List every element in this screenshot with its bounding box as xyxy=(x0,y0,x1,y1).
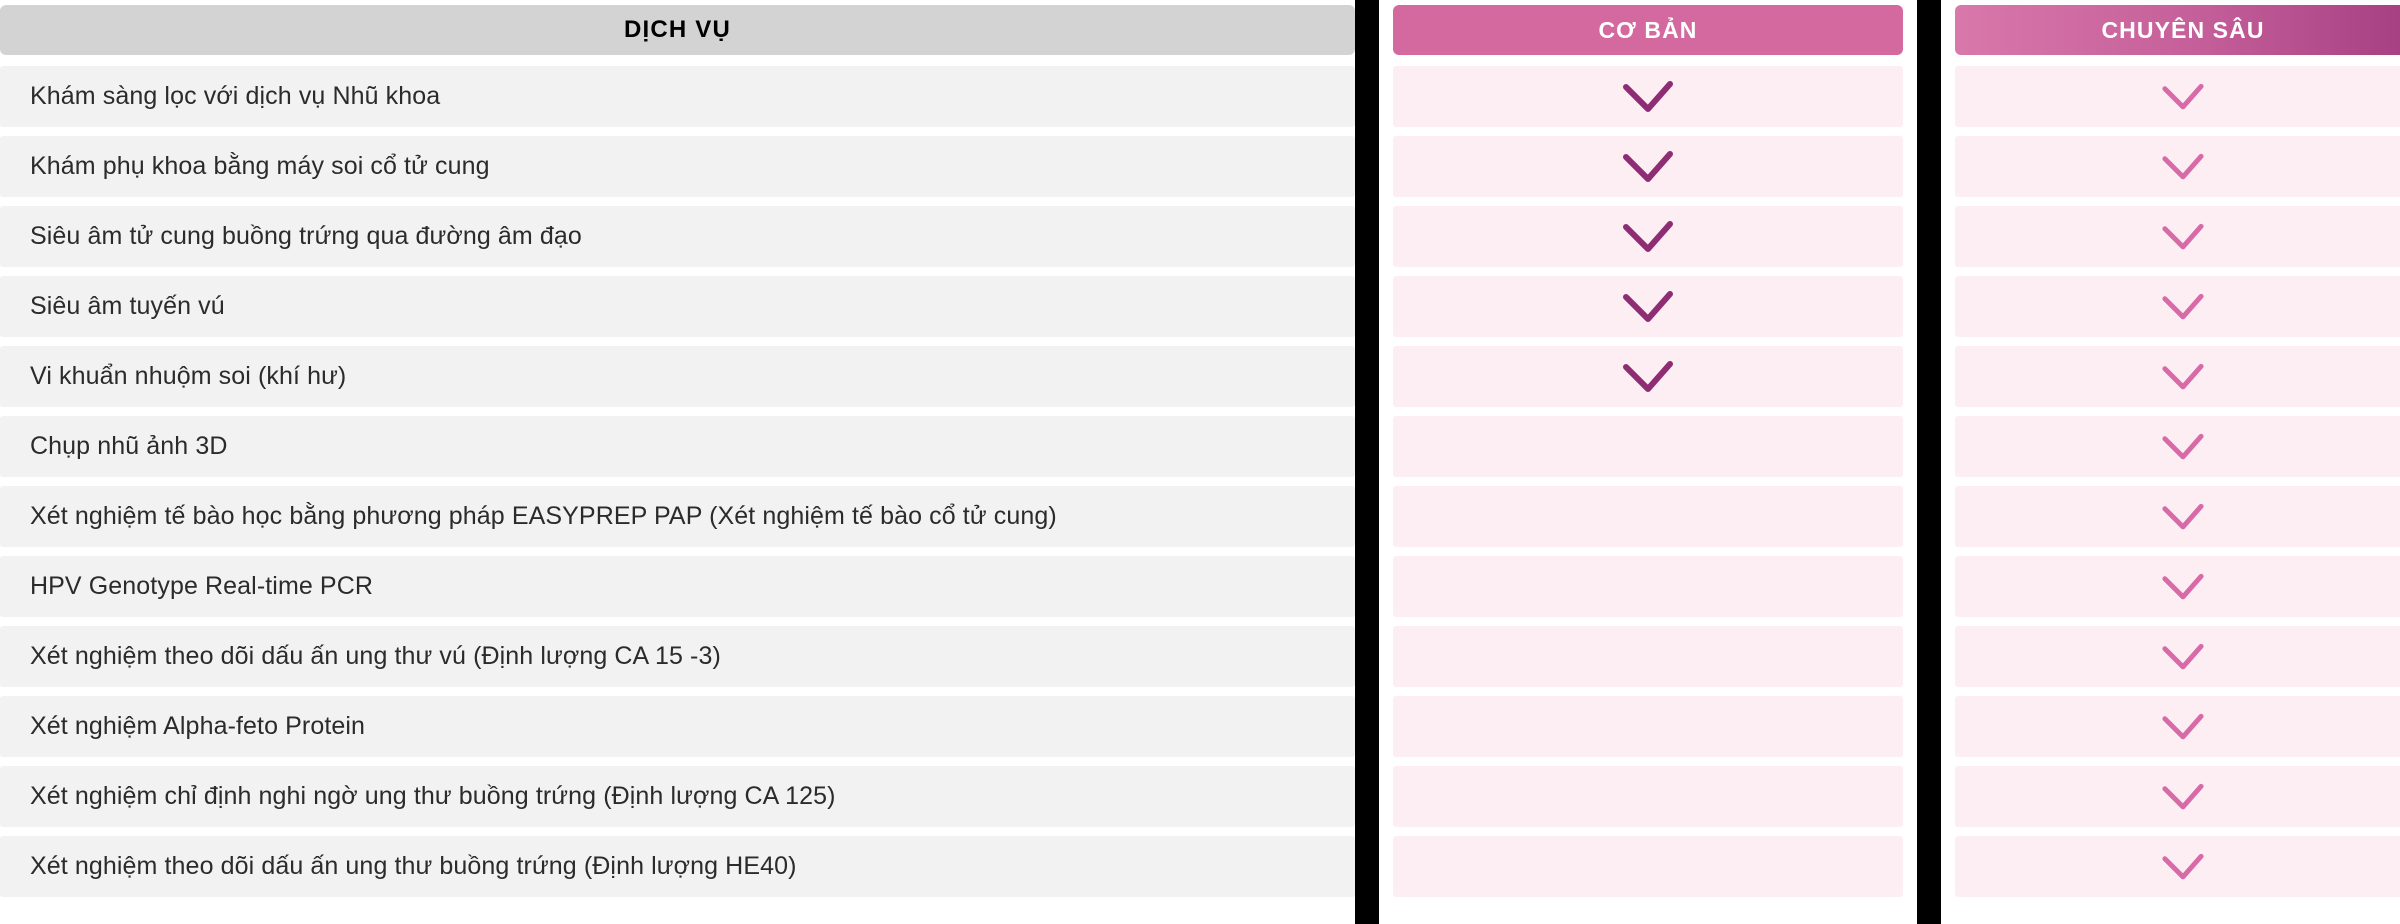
check-icon xyxy=(2161,573,2205,601)
plan-header-basic[interactable]: CƠ BẢN xyxy=(1393,5,1903,55)
table-row: Khám sàng lọc với dịch vụ Nhũ khoa xyxy=(0,66,1355,127)
plan-deep-cell xyxy=(1955,626,2400,687)
table-row: Xét nghiệm theo dõi dấu ấn ung thư vú (Đ… xyxy=(0,626,1355,687)
check-icon xyxy=(2161,223,2205,251)
plan-basic-cell xyxy=(1393,206,1903,267)
table-row: HPV Genotype Real-time PCR xyxy=(0,556,1355,617)
table-row: Xét nghiệm Alpha-feto Protein xyxy=(0,696,1355,757)
plan-column-basic: CƠ BẢN xyxy=(1379,0,1917,906)
table-row: Vi khuẩn nhuộm soi (khí hư) xyxy=(0,346,1355,407)
plan-deep-cell xyxy=(1955,486,2400,547)
service-name: Chụp nhũ ảnh 3D xyxy=(30,432,227,461)
check-icon xyxy=(1622,220,1674,254)
check-icon xyxy=(2161,783,2205,811)
plan-basic-cell xyxy=(1393,136,1903,197)
plan-basic-cell xyxy=(1393,66,1903,127)
plan-basic-cell xyxy=(1393,766,1903,827)
plan-deep-cell xyxy=(1955,766,2400,827)
service-comparison-table: DỊCH VỤ Khám sàng lọc với dịch vụ Nhũ kh… xyxy=(0,0,2400,924)
service-name: Xét nghiệm tế bào học bằng phương pháp E… xyxy=(30,502,1057,531)
check-icon xyxy=(1622,360,1674,394)
service-row-list: Khám sàng lọc với dịch vụ Nhũ khoaKhám p… xyxy=(0,66,1355,906)
plan-basic-cell xyxy=(1393,626,1903,687)
check-icon xyxy=(1622,150,1674,184)
service-column-header: DỊCH VỤ xyxy=(0,5,1355,55)
check-icon xyxy=(2161,293,2205,321)
table-row: Siêu âm tuyến vú xyxy=(0,276,1355,337)
check-icon xyxy=(1622,290,1674,324)
plan-basic-cell xyxy=(1393,346,1903,407)
plan-deep-cell xyxy=(1955,136,2400,197)
table-row: Xét nghiệm tế bào học bằng phương pháp E… xyxy=(0,486,1355,547)
plan-column-deep: CHUYÊN SÂU xyxy=(1941,0,2400,906)
service-name: Xét nghiệm theo dõi dấu ấn ung thư vú (Đ… xyxy=(30,642,721,671)
service-name: Vi khuẩn nhuộm soi (khí hư) xyxy=(30,362,346,391)
service-column: DỊCH VỤ Khám sàng lọc với dịch vụ Nhũ kh… xyxy=(0,0,1355,906)
service-name: Xét nghiệm theo dõi dấu ấn ung thư buồng… xyxy=(30,852,797,881)
check-icon xyxy=(1622,80,1674,114)
plan-basic-cell xyxy=(1393,416,1903,477)
plan-deep-row-list xyxy=(1955,66,2400,906)
check-icon xyxy=(2161,713,2205,741)
service-name: Xét nghiệm chỉ định nghi ngờ ung thư buồ… xyxy=(30,782,836,811)
service-name: Khám sàng lọc với dịch vụ Nhũ khoa xyxy=(30,82,440,111)
service-name: HPV Genotype Real-time PCR xyxy=(30,572,373,601)
plan-basic-cell xyxy=(1393,276,1903,337)
service-name: Siêu âm tuyến vú xyxy=(30,292,225,321)
plan-header-deep[interactable]: CHUYÊN SÂU xyxy=(1955,5,2400,55)
plan-basic-cell xyxy=(1393,556,1903,617)
check-icon xyxy=(2161,83,2205,111)
table-row: Khám phụ khoa bằng máy soi cổ tử cung xyxy=(0,136,1355,197)
check-icon xyxy=(2161,363,2205,391)
plan-basic-row-list xyxy=(1393,66,1903,906)
plan-deep-cell xyxy=(1955,66,2400,127)
plan-deep-cell xyxy=(1955,556,2400,617)
plan-basic-cell xyxy=(1393,486,1903,547)
table-row: Siêu âm tử cung buồng trứng qua đường âm… xyxy=(0,206,1355,267)
plan-deep-cell xyxy=(1955,416,2400,477)
service-name: Khám phụ khoa bằng máy soi cổ tử cung xyxy=(30,152,490,181)
plan-basic-cell xyxy=(1393,836,1903,897)
check-icon xyxy=(2161,853,2205,881)
check-icon xyxy=(2161,153,2205,181)
table-row: Xét nghiệm chỉ định nghi ngờ ung thư buồ… xyxy=(0,766,1355,827)
plan-deep-cell xyxy=(1955,346,2400,407)
service-name: Xét nghiệm Alpha-feto Protein xyxy=(30,712,365,741)
check-icon xyxy=(2161,643,2205,671)
plan-header-deep-label: CHUYÊN SÂU xyxy=(2101,17,2264,44)
table-row: Xét nghiệm theo dõi dấu ấn ung thư buồng… xyxy=(0,836,1355,897)
plan-deep-cell xyxy=(1955,696,2400,757)
plan-deep-cell xyxy=(1955,276,2400,337)
service-column-header-label: DỊCH VỤ xyxy=(624,16,731,44)
plan-deep-cell xyxy=(1955,206,2400,267)
check-icon xyxy=(2161,433,2205,461)
check-icon xyxy=(2161,503,2205,531)
column-separator-left xyxy=(1355,0,1379,924)
service-name: Siêu âm tử cung buồng trứng qua đường âm… xyxy=(30,222,582,251)
plan-basic-cell xyxy=(1393,696,1903,757)
table-row: Chụp nhũ ảnh 3D xyxy=(0,416,1355,477)
plan-header-basic-label: CƠ BẢN xyxy=(1598,17,1697,44)
plan-deep-cell xyxy=(1955,836,2400,897)
column-separator-right xyxy=(1917,0,1941,924)
